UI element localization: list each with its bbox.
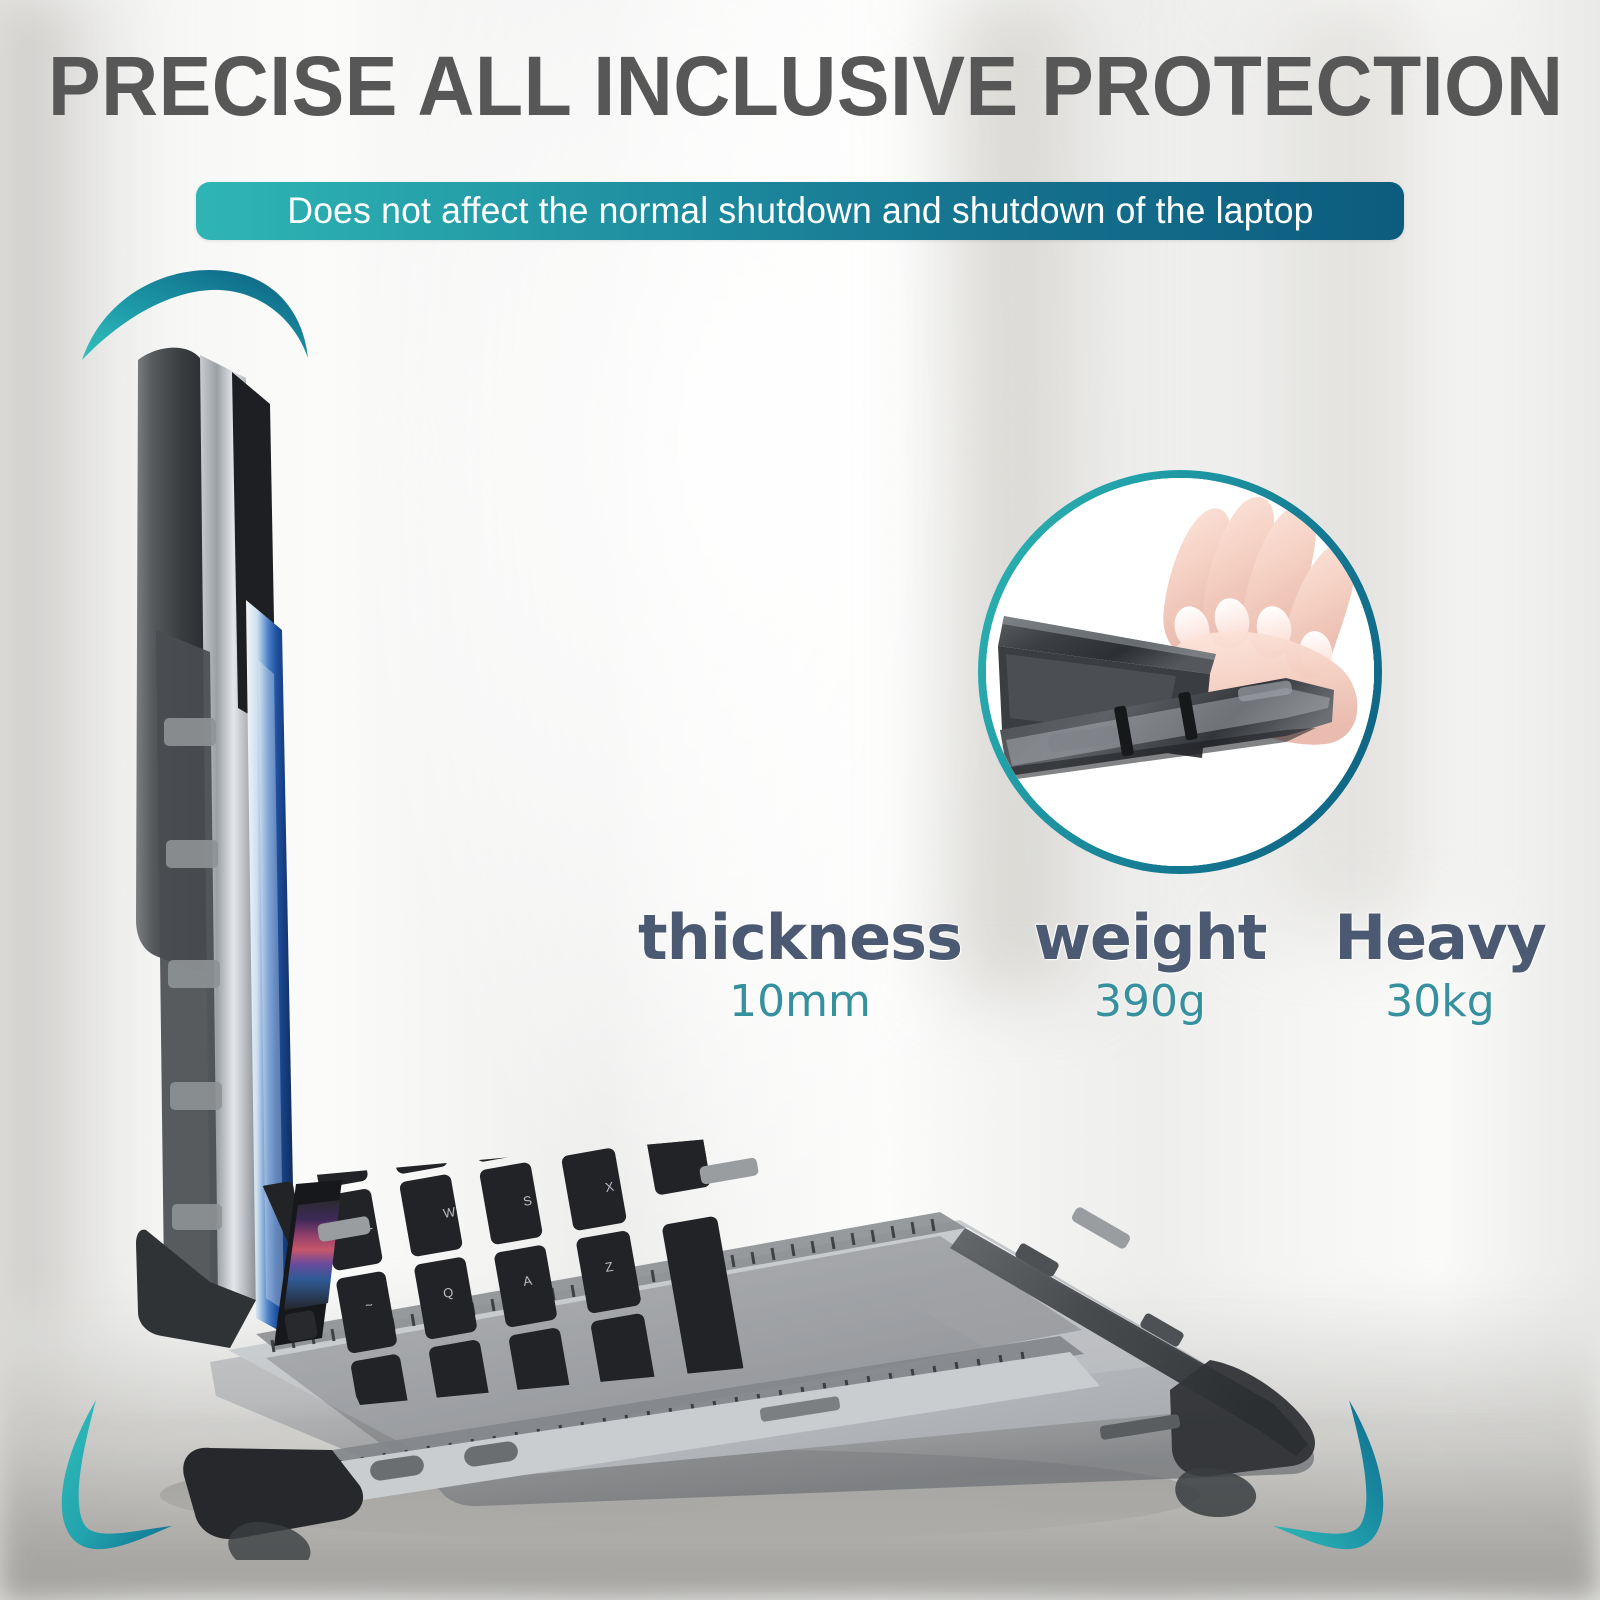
case-rail-cutout-3 xyxy=(168,960,220,988)
spec-item-thickness: thickness 10mm xyxy=(610,905,990,1024)
svg-text:F: F xyxy=(522,1033,532,1049)
page-title: PRECISE ALL INCLUSIVE PROTECTION xyxy=(48,44,1552,128)
svg-text:T: T xyxy=(442,965,452,981)
svg-text:2: 2 xyxy=(364,1137,374,1153)
case-foot-left xyxy=(228,1522,310,1560)
case-rail-cutout-1 xyxy=(164,718,216,746)
svg-text:3: 3 xyxy=(364,1057,374,1073)
case-rail-cutout-5 xyxy=(172,1204,222,1230)
inset-circle-detail-photo xyxy=(986,478,1374,866)
svg-text:E: E xyxy=(442,1125,453,1141)
subtitle-banner: Does not affect the normal shutdown and … xyxy=(196,182,1404,240)
spec-item-weight: weight 390g xyxy=(1005,905,1295,1024)
spec-item-heavy: Heavy 30kg xyxy=(1310,905,1570,1024)
deck-clip-right xyxy=(1070,1206,1132,1251)
deck-clip-mid xyxy=(699,1157,759,1185)
case-rail-cutout-4 xyxy=(170,1082,222,1110)
spec-value-heavy: 30kg xyxy=(1385,980,1494,1024)
svg-text:C: C xyxy=(604,1099,616,1115)
spec-value-thickness: 10mm xyxy=(729,980,871,1024)
spec-label-weight: weight xyxy=(1034,905,1267,970)
svg-text:R: R xyxy=(442,1045,454,1061)
spec-label-thickness: thickness xyxy=(638,905,962,970)
spec-list: thickness 10mm weight 390g Heavy 30kg xyxy=(610,905,1570,1024)
subtitle-text: Does not affect the normal shutdown and … xyxy=(287,190,1313,232)
product-marketing-poster: ~ 1 2 3 4 Q W E R T A S D F G Z X C V xyxy=(0,0,1600,1600)
case-rail-cutout-2 xyxy=(166,840,218,868)
spec-label-heavy: Heavy xyxy=(1334,905,1546,970)
svg-text:4: 4 xyxy=(364,977,374,993)
svg-text:D: D xyxy=(522,1113,534,1129)
svg-text:G: G xyxy=(522,952,535,969)
spec-value-weight: 390g xyxy=(1094,980,1206,1024)
touch-id-key xyxy=(284,1310,318,1343)
